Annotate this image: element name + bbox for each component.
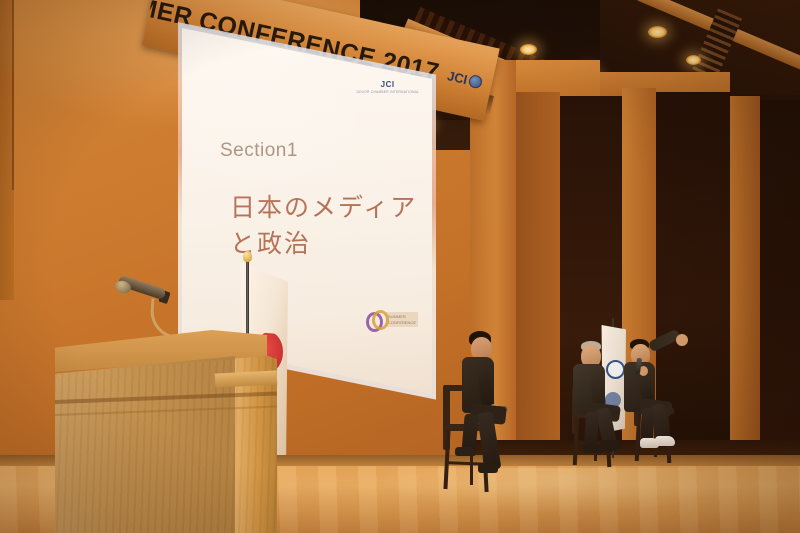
slide-corner-logo-label: JCI (356, 80, 419, 89)
leg (584, 412, 599, 447)
shoe (455, 447, 476, 456)
conference-stage-photo: UMMER CONFERENCE 2017 JCI Section1 日本のメデ… (0, 0, 800, 533)
slide-section-label: Section1 (220, 140, 298, 162)
ceiling-spotlight-icon (648, 26, 667, 38)
banner-jci-logo: JCI (446, 68, 484, 90)
banner-jci-label: JCI (446, 68, 469, 87)
slide-corner-logo-sub: JUNIOR CHAMBER INTERNATIONAL (356, 90, 419, 94)
wall-recess (760, 100, 800, 488)
slide-footer-logo-caption: SUMMERCONFERENCE (386, 312, 418, 327)
ceiling-spotlight-icon (520, 44, 537, 55)
flag-pole-finial (243, 251, 252, 262)
ceiling-spotlight-icon (686, 55, 701, 65)
slide-corner-logo: JCI JUNIOR CHAMBER INTERNATIONAL (356, 80, 419, 94)
slide-footer-logo: SUMMERCONFERENCE (366, 310, 418, 329)
wall-pillar (730, 96, 760, 488)
white-sneaker (640, 438, 659, 448)
wall-pillar (516, 92, 560, 487)
globe-icon (468, 73, 484, 89)
hand (676, 334, 688, 346)
ribbon-loop-logo-icon (366, 310, 383, 329)
slide-title: 日本のメディアと政治 (230, 188, 432, 260)
shoe (478, 463, 498, 473)
leg (640, 408, 655, 441)
slide-content: Section1 日本のメディアと政治 SUMMERCONFERENCE (182, 28, 432, 343)
jci-emblem-icon (606, 360, 625, 379)
shoe (583, 444, 604, 453)
